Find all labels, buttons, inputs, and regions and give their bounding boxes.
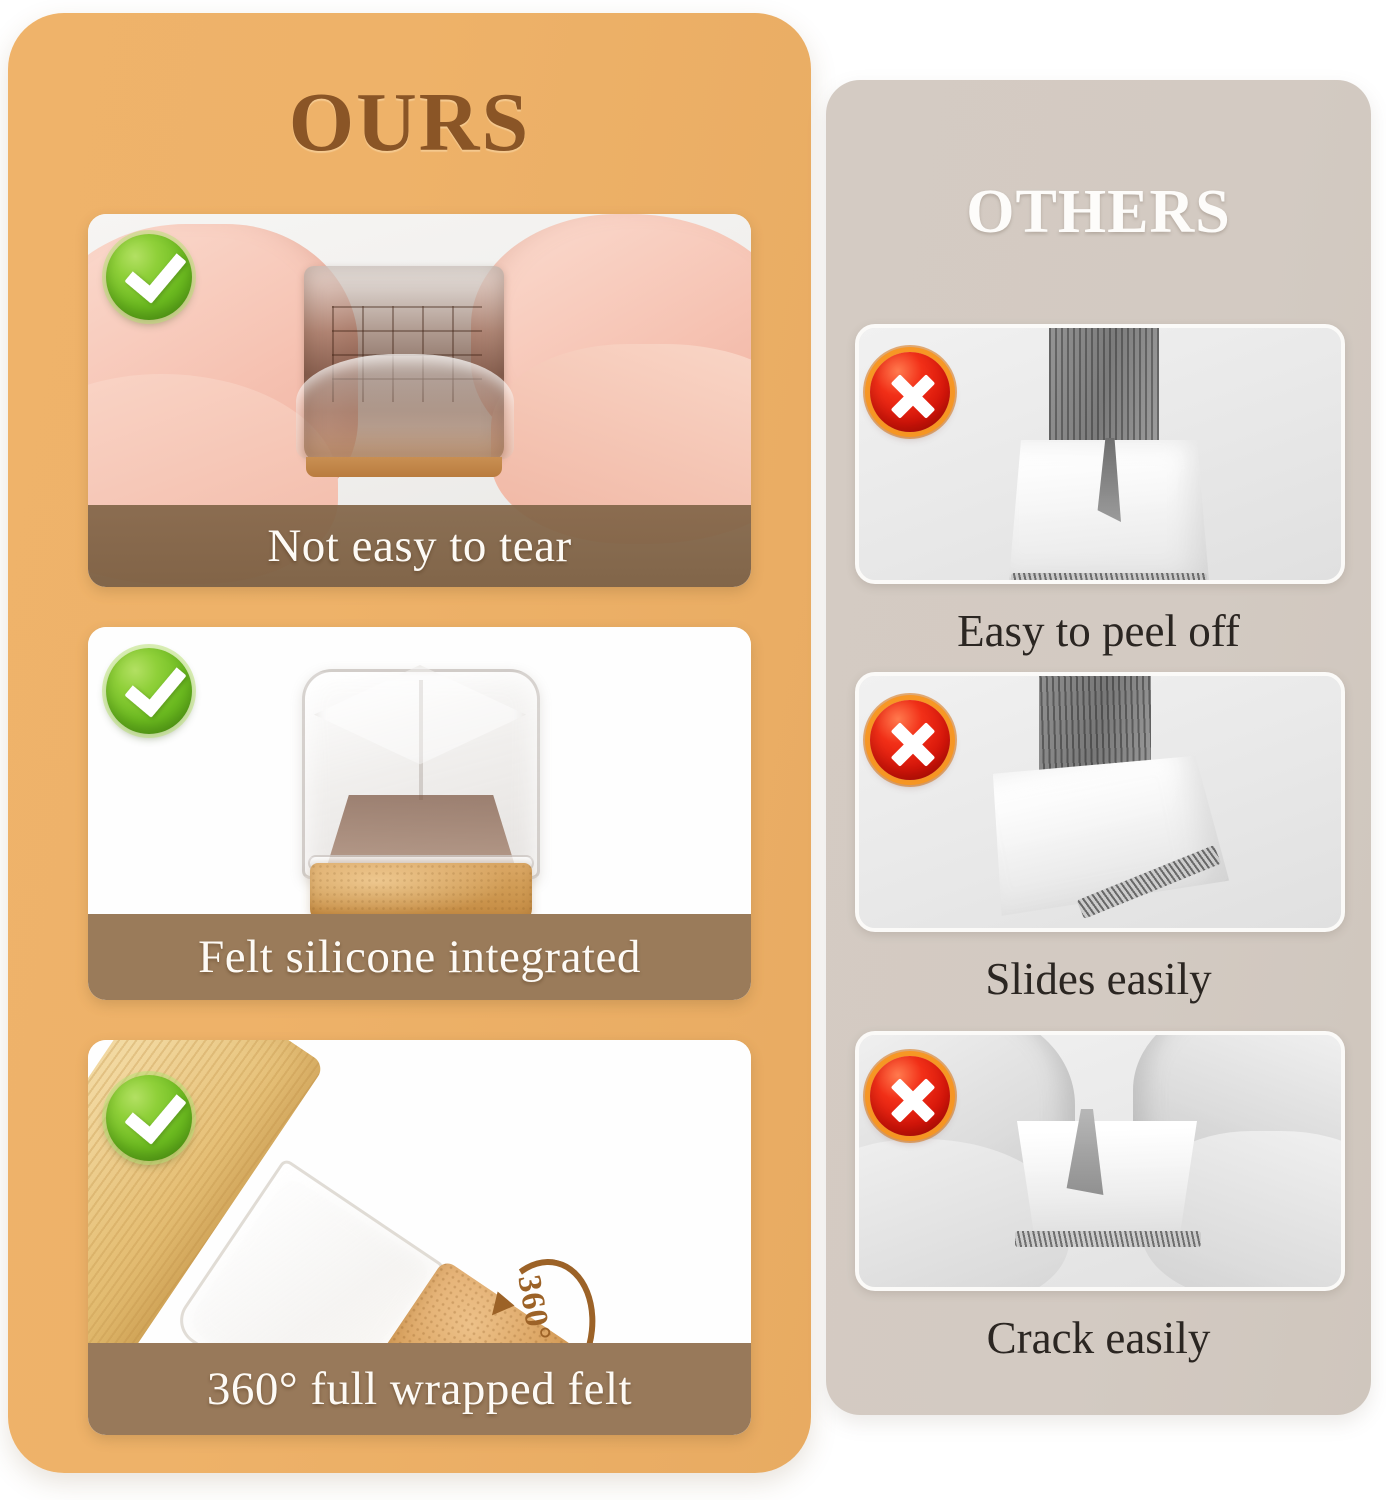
ours-card-caption: 360° full wrapped felt [88, 1343, 751, 1435]
ours-card-caption: Not easy to tear [88, 505, 751, 587]
green-check-icon [106, 1075, 192, 1161]
red-cross-icon [870, 352, 950, 432]
felt-pad-strip [1011, 573, 1207, 580]
ours-card-caption: Felt silicone integrated [88, 914, 751, 1000]
green-check-icon [106, 648, 192, 734]
others-card-caption: Slides easily [826, 957, 1371, 1002]
ours-title: OURS [8, 79, 811, 167]
felt-pad-strip [1015, 1231, 1201, 1247]
stretched-silicone-film [296, 354, 514, 459]
white-cap-shape [1007, 1121, 1207, 1241]
others-title: OTHERS [826, 180, 1371, 245]
cap-cork-base [306, 457, 502, 477]
red-cross-icon [870, 700, 950, 780]
green-check-icon [106, 234, 192, 320]
others-card-caption: Crack easily [826, 1316, 1371, 1361]
red-cross-icon [870, 1056, 950, 1136]
others-card-caption: Easy to peel off [826, 609, 1371, 654]
comparison-infographic: OURS Not easy to tear Felt silicone inte… [0, 0, 1386, 1500]
